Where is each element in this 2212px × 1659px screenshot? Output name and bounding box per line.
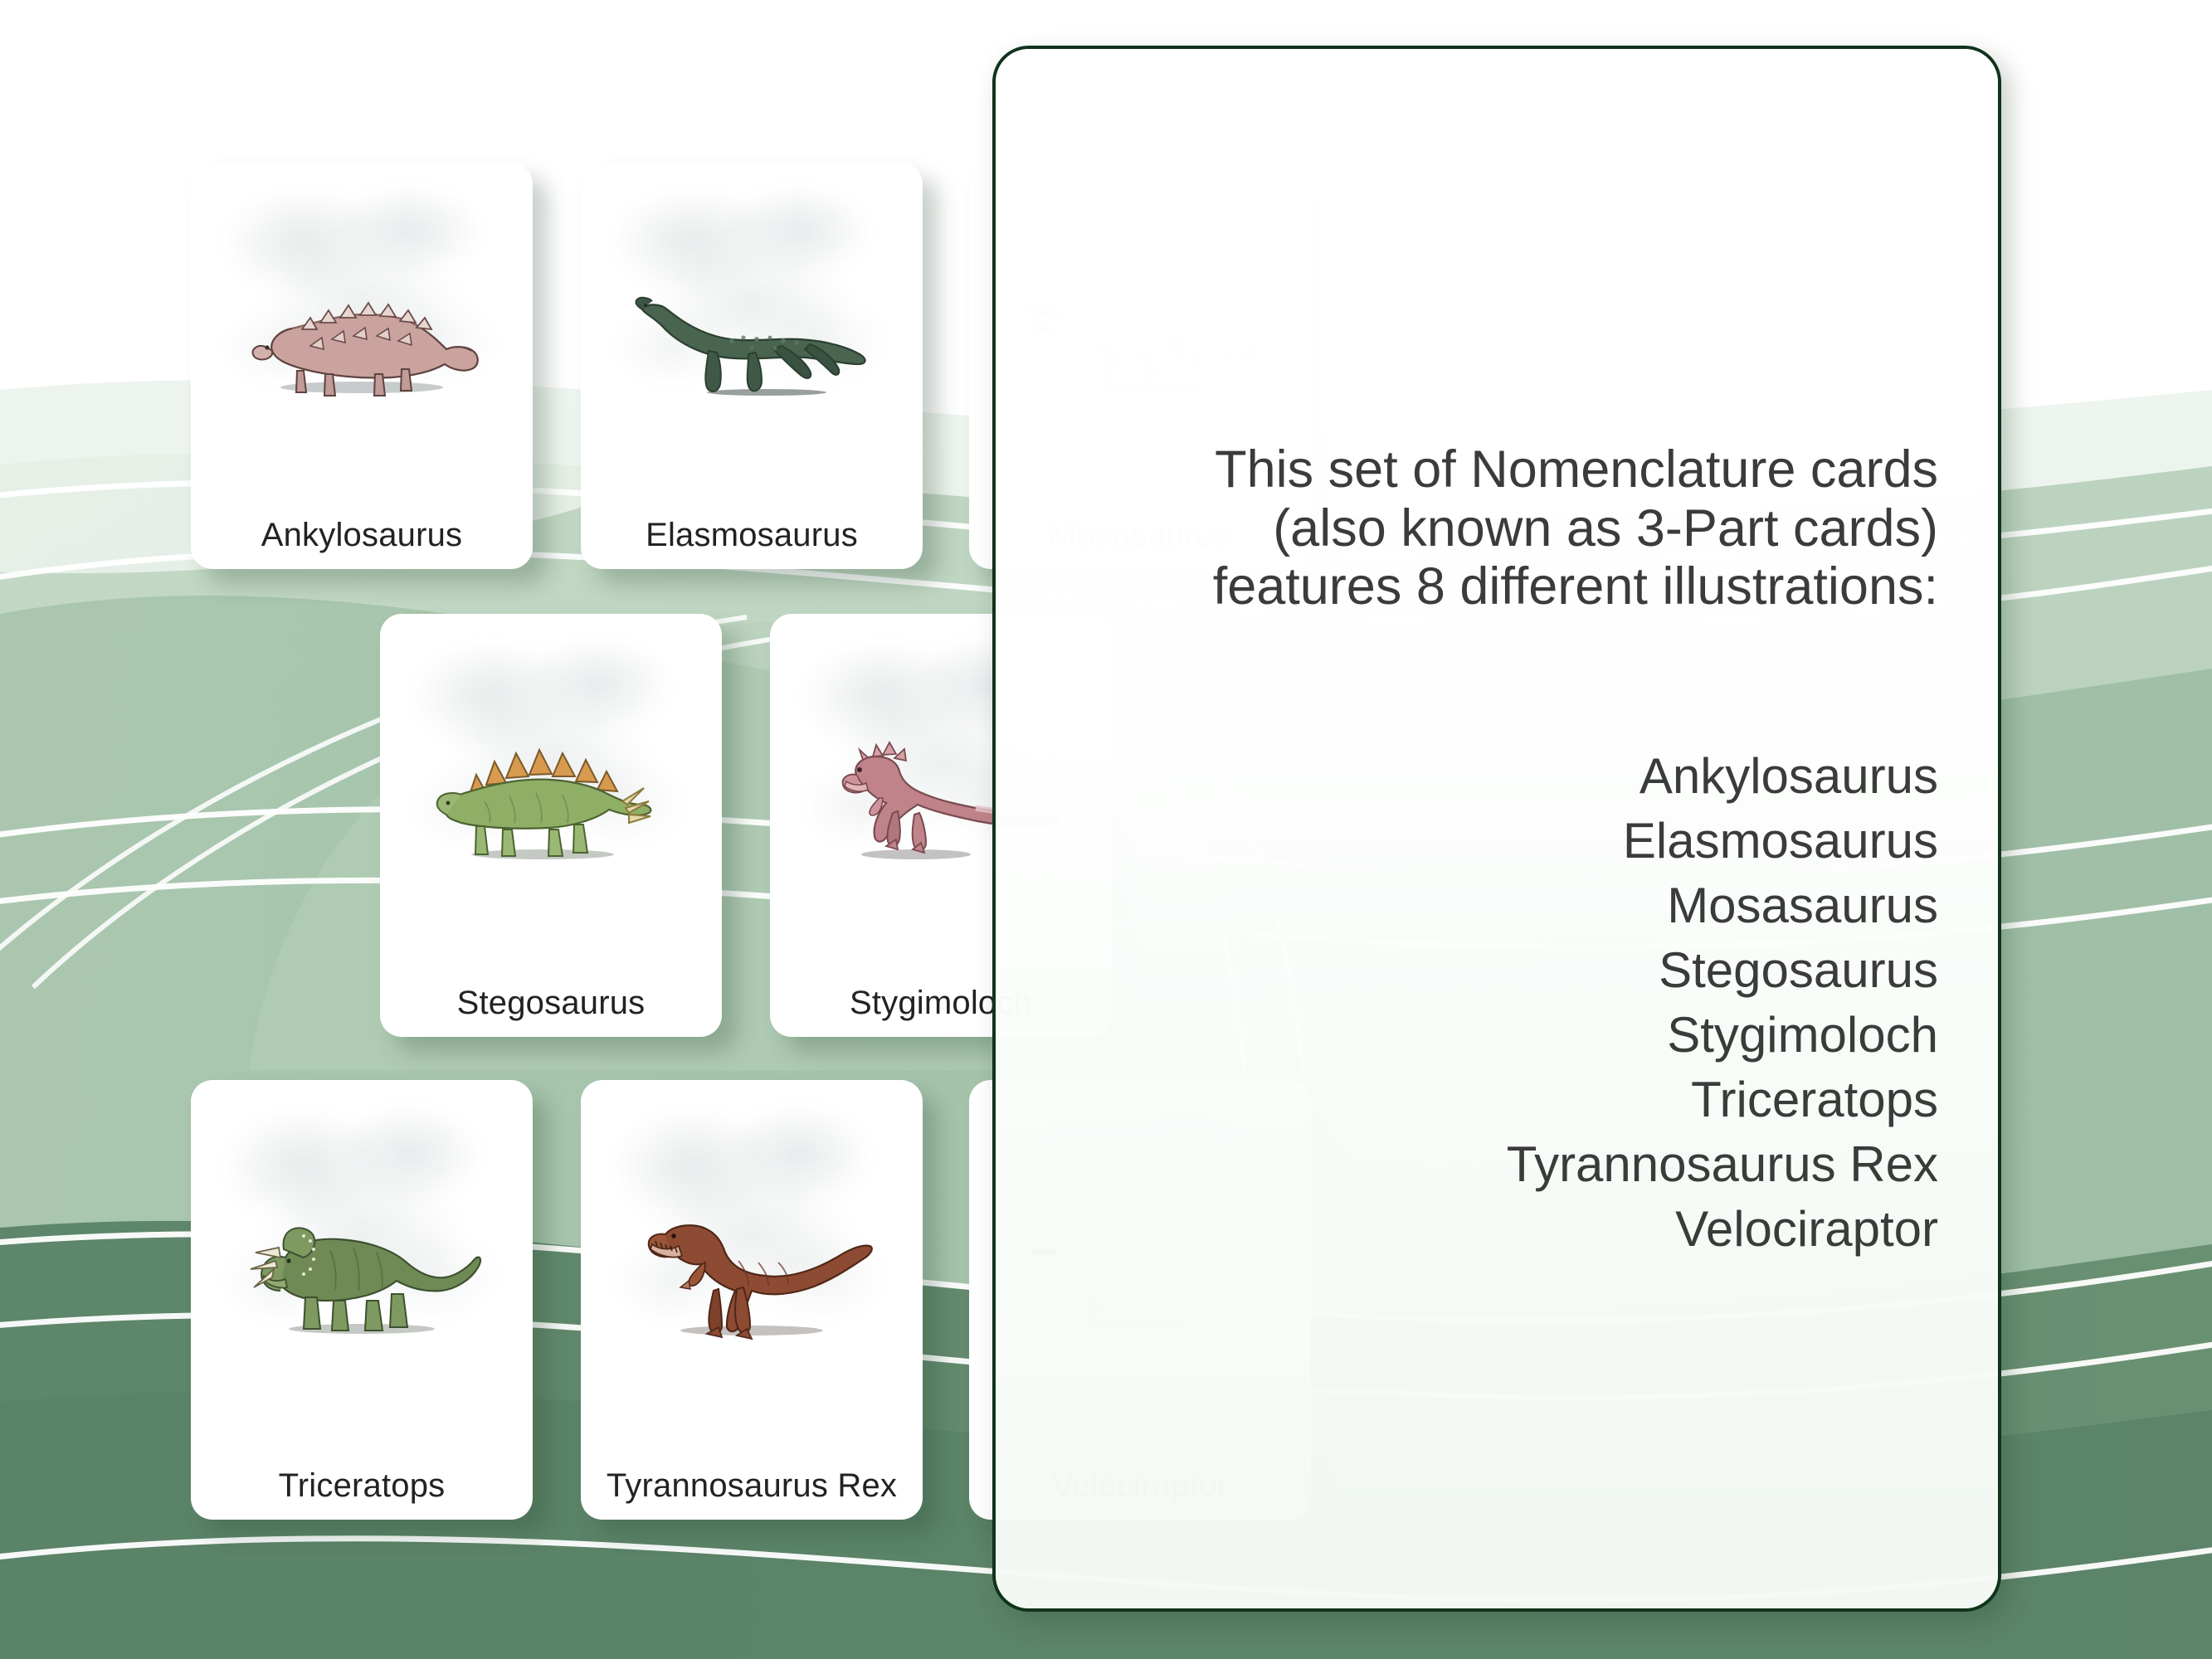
name-elasmosaurus: Elasmosaurus (1059, 809, 1938, 873)
panel-name-list: Ankylosaurus Elasmosaurus Mosasaurus Ste… (1059, 744, 1938, 1262)
triceratops-illustration (237, 1208, 486, 1340)
card-label: Elasmosaurus (581, 517, 923, 569)
name-tyrannosaurus-rex: Tyrannosaurus Rex (1059, 1132, 1938, 1197)
name-mosasaurus: Mosasaurus (1059, 873, 1938, 938)
name-triceratops: Triceratops (1059, 1068, 1938, 1132)
card-art-ankylosaurus (191, 163, 533, 517)
name-stygimoloch: Stygimoloch (1059, 1003, 1938, 1068)
card-label: Stegosaurus (380, 985, 722, 1037)
card-elasmosaurus[interactable]: Elasmosaurus (581, 163, 923, 569)
card-art-triceratops (191, 1080, 533, 1467)
headline-line-1: This set of Nomenclature cards (1059, 440, 1938, 499)
info-panel: This set of Nomenclature cards (also kno… (992, 46, 2001, 1612)
card-art-elasmosaurus (581, 163, 923, 517)
headline-line-2: (also known as 3-Part cards) (1059, 499, 1938, 558)
panel-headline: This set of Nomenclature cards (also kno… (1059, 440, 1938, 616)
stegosaurus-illustration (426, 733, 675, 866)
card-art-stegosaurus (380, 614, 722, 985)
card-triceratops[interactable]: Triceratops (191, 1080, 533, 1520)
screenshot-stage: Ankylosaurus Elasmosa (0, 0, 2212, 1659)
headline-line-3: features 8 different illustrations: (1059, 557, 1938, 616)
card-tyrannosaurus-rex[interactable]: Tyrannosaurus Rex (581, 1080, 923, 1520)
card-label: Ankylosaurus (191, 517, 533, 569)
ankylosaurus-illustration (237, 278, 486, 402)
tyrannosaurus-rex-illustration (627, 1208, 876, 1340)
elasmosaurus-illustration (627, 278, 876, 402)
card-label: Tyrannosaurus Rex (581, 1467, 923, 1520)
card-art-tyrannosaurus-rex (581, 1080, 923, 1467)
card-ankylosaurus[interactable]: Ankylosaurus (191, 163, 533, 569)
name-ankylosaurus: Ankylosaurus (1059, 744, 1938, 809)
card-label: Triceratops (191, 1467, 533, 1520)
name-stegosaurus: Stegosaurus (1059, 938, 1938, 1003)
card-stegosaurus[interactable]: Stegosaurus (380, 614, 722, 1037)
name-velociraptor: Velociraptor (1059, 1197, 1938, 1262)
